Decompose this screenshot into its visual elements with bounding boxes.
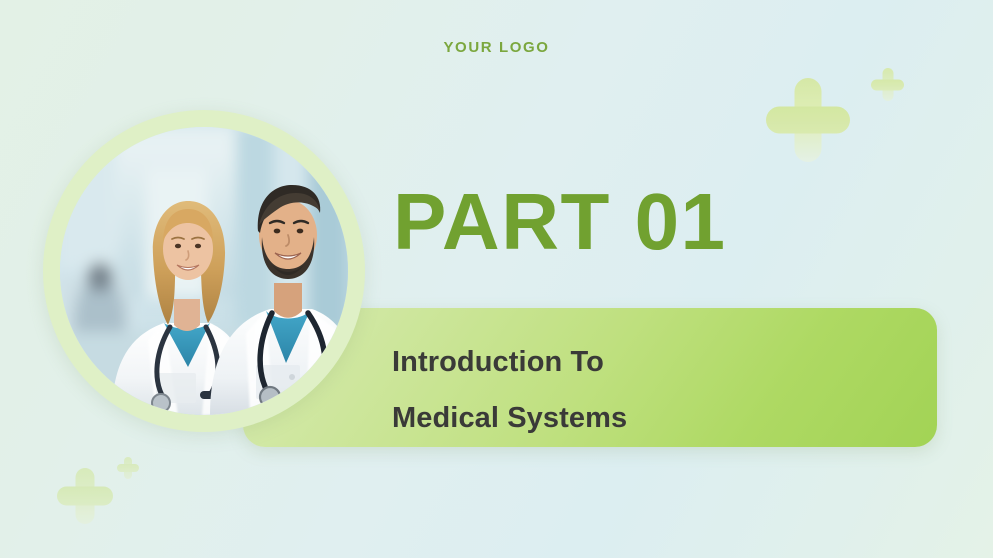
presentation-slide: YOUR LOGO Introduction To Medical System… (0, 0, 993, 558)
cross-horizontal-bar (117, 464, 139, 472)
slide-subtitle: Introduction To Medical Systems (392, 334, 627, 446)
page-title: PART 01 (393, 180, 727, 264)
medical-cross-icon (766, 78, 850, 162)
doctors-photo (60, 127, 348, 415)
cross-vertical-bar (124, 457, 132, 479)
cross-vertical-bar (882, 68, 893, 101)
medical-cross-icon (57, 468, 113, 524)
medical-cross-icon (871, 68, 904, 101)
cross-horizontal-bar (57, 487, 113, 506)
cross-vertical-bar (795, 78, 822, 162)
cross-horizontal-bar (766, 107, 850, 134)
cross-vertical-bar (76, 468, 95, 524)
cross-horizontal-bar (871, 79, 904, 90)
logo-text: YOUR LOGO (0, 39, 993, 56)
medical-cross-icon (117, 457, 139, 479)
photo-ring (43, 110, 365, 432)
